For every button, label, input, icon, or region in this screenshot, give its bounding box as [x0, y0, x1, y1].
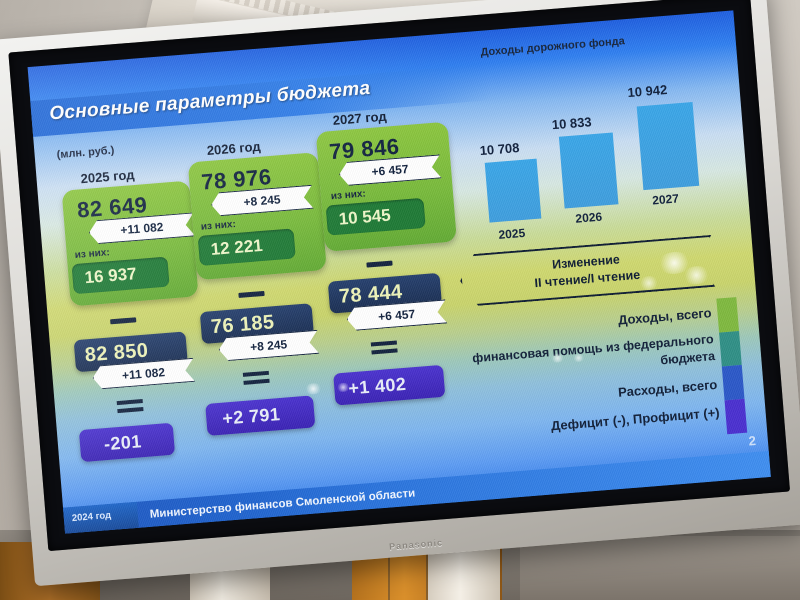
minus-sign-2025: [110, 317, 136, 324]
minus-sign-2026: [238, 291, 264, 298]
chart-title: Доходы дорожного фонда: [457, 33, 647, 62]
bar-2027: [637, 102, 700, 190]
wall-panel-right: [520, 536, 800, 600]
column-year-2025: 2025 год: [80, 167, 135, 186]
balance-2025: -201: [103, 431, 142, 455]
display-screen[interactable]: Panasonic Основные параметры бюджета (мл…: [0, 0, 800, 586]
footer-year-label: 2024 год: [71, 510, 111, 524]
units-label: (млн. руб.): [56, 145, 115, 162]
page-number: 2: [748, 433, 756, 449]
federal-aid-2026: 12 221: [210, 236, 263, 260]
column-year-2026: 2026 год: [206, 139, 261, 158]
federal-aid-2025: 16 937: [84, 264, 137, 288]
bar-category-2027: 2027: [652, 191, 680, 207]
change-banner-line2: II чтение/I чтение: [534, 267, 641, 292]
minus-sign-2027: [366, 261, 392, 268]
change-banner: Изменение II чтение/I чтение: [458, 235, 715, 307]
legend-swatch-balance: [725, 399, 748, 434]
legend-label-federal-aid: финансовая помощь из федерального бюджет…: [470, 331, 716, 384]
federal-aid-2027: 10 545: [338, 206, 391, 230]
presentation-slide: Основные параметры бюджета (млн. руб.) 2…: [28, 10, 771, 533]
legend-label-expenses: Расходы, всего: [503, 377, 718, 409]
legend-swatch-revenue: [716, 297, 739, 332]
equals-sign-2025: [117, 399, 144, 414]
equals-sign-2026: [243, 371, 270, 386]
bar-value-2026: 10 833: [551, 114, 592, 132]
bar-value-2025: 10 708: [479, 140, 520, 158]
legend-swatch-federal-aid: [719, 331, 742, 366]
bar-value-2027: 10 942: [627, 82, 668, 100]
bar-2025: [485, 159, 542, 223]
column-year-2027: 2027 год: [332, 109, 387, 128]
bar-category-2026: 2026: [575, 210, 603, 226]
legend-label-revenue: Доходы, всего: [498, 305, 713, 337]
legend-swatch-expenses: [722, 365, 745, 400]
legend-color-strip: [716, 297, 747, 434]
bar-category-2025: 2025: [498, 226, 526, 242]
bar-2026: [559, 132, 619, 208]
equals-sign-2027: [371, 340, 398, 355]
legend-label-balance: Дефицит (-), Профицит (+): [462, 405, 720, 441]
